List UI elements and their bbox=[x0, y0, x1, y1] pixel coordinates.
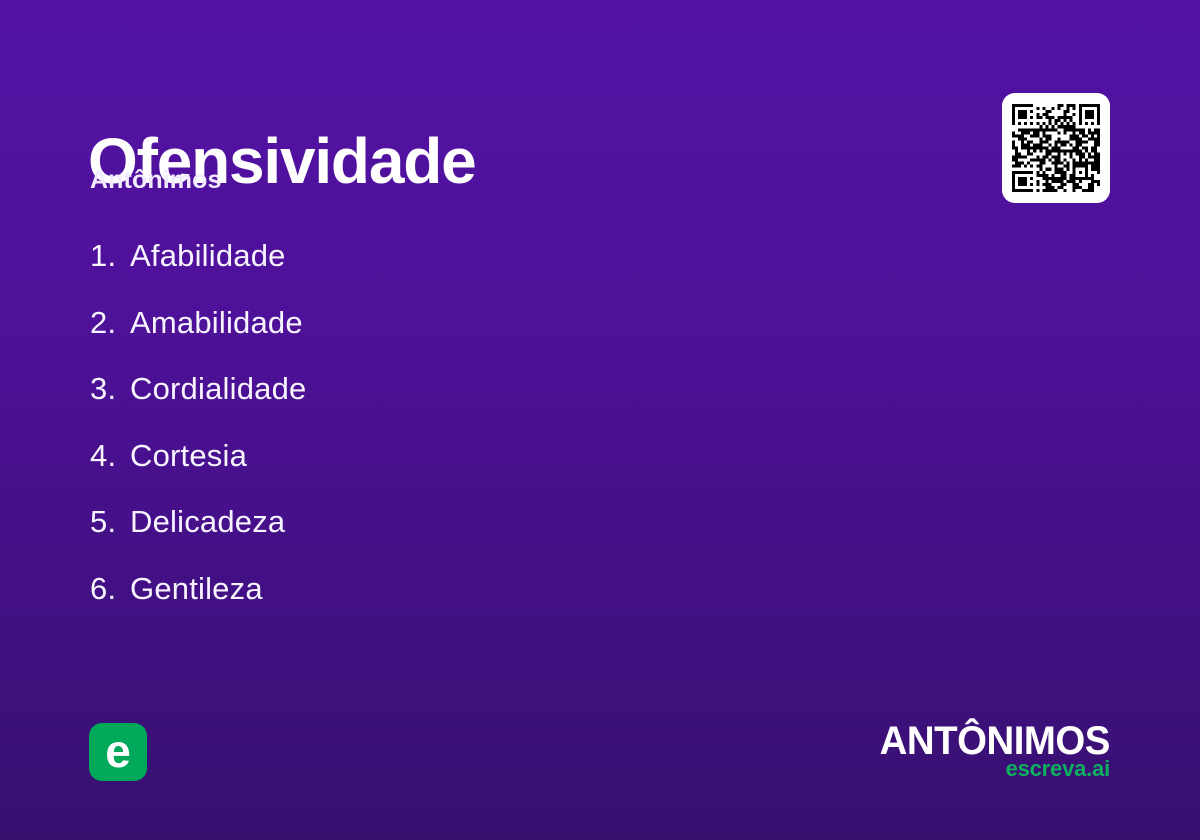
list-item: 4.Cortesia bbox=[90, 436, 790, 503]
list-item-label: Gentileza bbox=[130, 571, 263, 606]
list-item-number: 5. bbox=[90, 502, 130, 542]
brand-lockup: ANTÔNIMOS escreva.ai bbox=[870, 722, 1110, 780]
escreva-logo-badge[interactable]: e bbox=[89, 723, 147, 781]
list-item: 3.Cordialidade bbox=[90, 369, 790, 436]
antonyms-list: 1.Afabilidade 2.Amabilidade 3.Cordialida… bbox=[90, 236, 790, 635]
list-item-label: Cortesia bbox=[130, 438, 247, 473]
qr-code-icon[interactable] bbox=[1002, 93, 1110, 203]
page-subtitle: Antônimos bbox=[90, 168, 221, 193]
list-item-number: 3. bbox=[90, 369, 130, 409]
list-item-label: Delicadeza bbox=[130, 504, 285, 539]
list-item-number: 1. bbox=[90, 236, 130, 276]
list-item: 6.Gentileza bbox=[90, 569, 790, 636]
brand-name: ANTÔNIMOS bbox=[880, 722, 1110, 760]
list-item-label: Amabilidade bbox=[130, 305, 303, 340]
list-item-label: Cordialidade bbox=[130, 371, 306, 406]
list-item-number: 4. bbox=[90, 436, 130, 476]
list-item: 2.Amabilidade bbox=[90, 303, 790, 370]
list-item-number: 6. bbox=[90, 569, 130, 609]
antonyms-card: Ofensividade Antônimos 1.Afabilidade 2.A… bbox=[0, 0, 1200, 840]
list-item: 1.Afabilidade bbox=[90, 236, 790, 303]
list-item-number: 2. bbox=[90, 303, 130, 343]
list-item: 5.Delicadeza bbox=[90, 502, 790, 569]
list-item-label: Afabilidade bbox=[130, 238, 286, 273]
escreva-logo-letter: e bbox=[89, 723, 147, 781]
